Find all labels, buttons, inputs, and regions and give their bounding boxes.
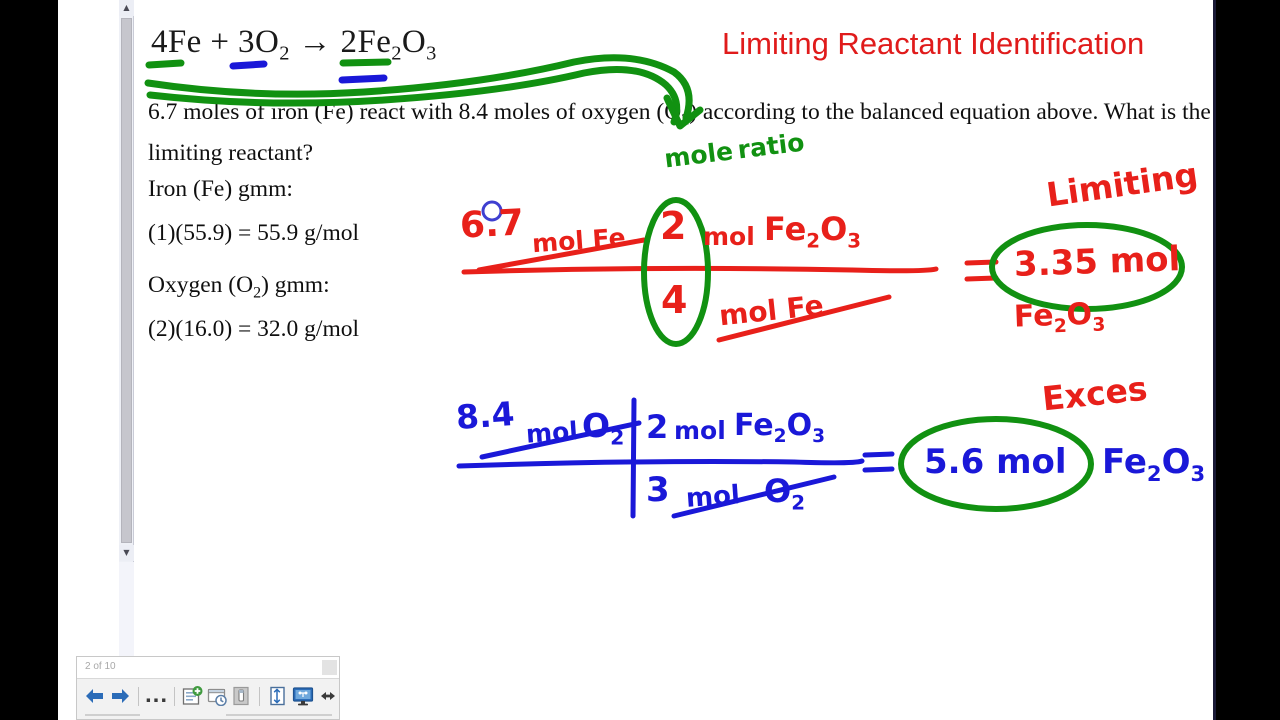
red-ratio-bottom-unit: mol Fe (718, 289, 826, 333)
equation-reactant-2-coefficient: 3 (238, 24, 255, 60)
gmm-iron-label: Iron (Fe) gmm: (148, 176, 293, 203)
equation-reactant-1: Fe (168, 24, 202, 60)
blue-ratio-bottom-o: O (764, 472, 791, 510)
blue-answer-species: Fe2O3 (1102, 442, 1205, 486)
excess-label: Exces (1040, 369, 1149, 419)
equation-plus: + (210, 24, 229, 60)
gmm-oxygen-label-subscript: 2 (253, 285, 261, 302)
blue-ratio-top-unit: mol (674, 416, 726, 445)
letterbox-right (1216, 0, 1280, 720)
red-answer-value: 3.35 mol (1013, 239, 1180, 285)
red-ratio-top-o-sub: 3 (847, 229, 861, 252)
slide-content: 4Fe + 3O2 → 2Fe2O3 Limiting Reactant Ide… (134, 0, 1216, 656)
gmm-oxygen-label-end: ) gmm: (261, 272, 330, 298)
scroll-down-icon[interactable]: ▼ (119, 545, 134, 561)
question-paragraph: 6.7 moles of iron (Fe) react with 8.4 mo… (148, 96, 1216, 169)
resize-button[interactable] (316, 683, 339, 709)
blue-answer-fe-sub: 2 (1147, 461, 1162, 486)
question-line-1-start: 6.7 moles of iron (Fe) react with 8.4 mo… (148, 99, 681, 125)
slide-area: ▲ ▼ 4Fe + 3O2 → 2Fe2O3 Limiting Reactant… (58, 0, 1216, 720)
toolbar-separator-2 (174, 687, 175, 706)
blue-ratio-top-fe-sub: 2 (774, 426, 787, 447)
cursor-pointer-icon (483, 202, 501, 220)
toolbar-corner-button[interactable] (322, 660, 337, 675)
red-numerator-unit: mol Fe (531, 223, 626, 258)
blue-ratio-top-o-sub: 3 (812, 426, 825, 447)
blue-fraction-bar (459, 461, 862, 466)
scrollbar-thumb[interactable] (121, 18, 132, 543)
red-ratio-top-species: Fe2O3 (764, 210, 861, 252)
green-circle-mole-ratio (644, 200, 708, 344)
slide-counter: 2 of 10 (85, 661, 116, 672)
red-answer-o-sub: 3 (1092, 314, 1106, 335)
equation-product-fe-subscript: 2 (391, 43, 402, 65)
red-ratio-top-o: O (820, 210, 847, 248)
marker-pen-icon (231, 686, 252, 706)
red-ratio-bottom-coefficient: 4 (661, 278, 687, 322)
blue-equals-sign (865, 454, 892, 470)
equation-reactant-1-coefficient: 4 (151, 24, 168, 60)
red-fraction-bar (464, 268, 936, 272)
blue-answer-fe: Fe (1102, 442, 1147, 482)
blue-numerator-unit: mol (525, 416, 579, 449)
toolbar-underline-right (226, 714, 332, 716)
next-slide-button[interactable] (109, 683, 132, 709)
gmm-oxygen-value: (2)(16.0) = 32.0 g/mol (148, 316, 359, 343)
blue-ratio-bottom-species: O2 (764, 472, 805, 514)
screen: ▲ ▼ 4Fe + 3O2 → 2Fe2O3 Limiting Reactant… (0, 0, 1280, 720)
toolbar-underline-left (85, 714, 140, 716)
green-circle-answer-2 (901, 419, 1091, 509)
arrow-right-icon (109, 687, 131, 705)
blue-numerator-o-sub: 2 (610, 426, 624, 450)
toolbar-separator-3 (259, 687, 260, 706)
red-answer-fe-sub: 2 (1054, 316, 1068, 337)
blue-ratio-top-fe: Fe (734, 408, 774, 443)
blue-answer-value: 5.6 mol (924, 442, 1067, 482)
equation-product-fe: Fe (357, 24, 391, 60)
blue-ratio-bottom-coefficient: 3 (646, 470, 670, 510)
previous-slide-button[interactable] (84, 683, 107, 709)
ellipsis-icon: ... (145, 692, 168, 700)
blue-answer-o: O (1162, 442, 1191, 482)
blue-ratio-bottom-o-sub: 2 (791, 491, 805, 514)
blue-cancel-denominator (674, 477, 834, 516)
blue-numerator-species: O2 (582, 406, 624, 450)
blue-underline-2fe2o3 (342, 78, 384, 80)
red-answer-fe: Fe (1013, 298, 1054, 334)
balanced-equation: 4Fe + 3O2 → 2Fe2O3 (151, 24, 437, 66)
red-equals-sign (967, 262, 996, 279)
toolbar-button-row: ... (77, 680, 339, 712)
equation-product-o-subscript: 3 (426, 43, 437, 65)
red-answer-species: Fe2O3 (1013, 296, 1105, 338)
toolbar-separator-1 (138, 687, 139, 706)
equation-reactant-2-subscript: 2 (279, 43, 290, 65)
history-clock-icon (207, 686, 228, 706)
equation-reactant-2-symbol: O (255, 24, 279, 60)
question-line-1-subscript: 2 (681, 112, 689, 129)
fit-page-button[interactable] (266, 683, 289, 709)
scroll-up-icon[interactable]: ▲ (119, 0, 134, 16)
gmm-iron-value: (1)(55.9) = 55.9 g/mol (148, 220, 359, 247)
question-line-1-end: ) according to the balanced equation (689, 99, 1030, 125)
red-numerator-quantity: 6.7 (459, 202, 525, 246)
page-title: Limiting Reactant Identification (722, 26, 1144, 62)
scrollbar-track-lower[interactable] (119, 562, 134, 656)
notes-add-icon (182, 686, 203, 706)
fit-page-icon (267, 686, 288, 706)
blue-answer-o-sub: 3 (1191, 461, 1206, 486)
red-ratio-top-fe-sub: 2 (806, 229, 820, 252)
blue-ratio-top-species: Fe2O3 (734, 408, 825, 447)
blue-numerator-quantity: 8.4 (455, 394, 516, 437)
monitor-present-icon (292, 686, 314, 706)
resize-horizontal-icon (317, 689, 339, 703)
blue-cancel-numerator (482, 423, 639, 457)
toolbar-status-bar: 2 of 10 (77, 657, 339, 679)
blue-ratio-top-o: O (787, 408, 813, 443)
equation-product-coefficient: 2 (341, 24, 358, 60)
red-ratio-top-fe: Fe (764, 210, 806, 248)
present-monitor-button[interactable] (291, 683, 314, 709)
gmm-oxygen-label: Oxygen (O2) gmm: (148, 272, 330, 303)
green-circle-answer-1 (992, 225, 1182, 309)
blue-ratio-top-coefficient: 2 (646, 408, 668, 446)
presenter-toolbar: 2 of 10 ... (76, 656, 340, 720)
red-cancel-denominator (719, 297, 889, 340)
red-answer-o: O (1066, 297, 1093, 333)
equation-product-o: O (402, 24, 426, 60)
letterbox-left (0, 0, 58, 720)
annotations-button[interactable] (181, 683, 204, 709)
red-ratio-top-coefficient: 2 (660, 204, 686, 248)
gmm-oxygen-label-start: Oxygen (O (148, 272, 253, 298)
blue-numerator-o: O (582, 406, 610, 445)
slide-history-button[interactable] (206, 683, 229, 709)
vertical-scrollbar[interactable]: ▲ ▼ (119, 0, 134, 656)
arrow-left-icon (84, 687, 106, 705)
blue-vertical-divider (633, 400, 634, 516)
more-options-button[interactable]: ... (145, 683, 168, 709)
equation-arrow: → (298, 24, 331, 60)
marker-button[interactable] (231, 683, 254, 709)
red-cancel-numerator (479, 240, 644, 270)
red-ratio-top-unit: mol (703, 222, 755, 251)
blue-ratio-bottom-unit: mol (685, 480, 741, 514)
